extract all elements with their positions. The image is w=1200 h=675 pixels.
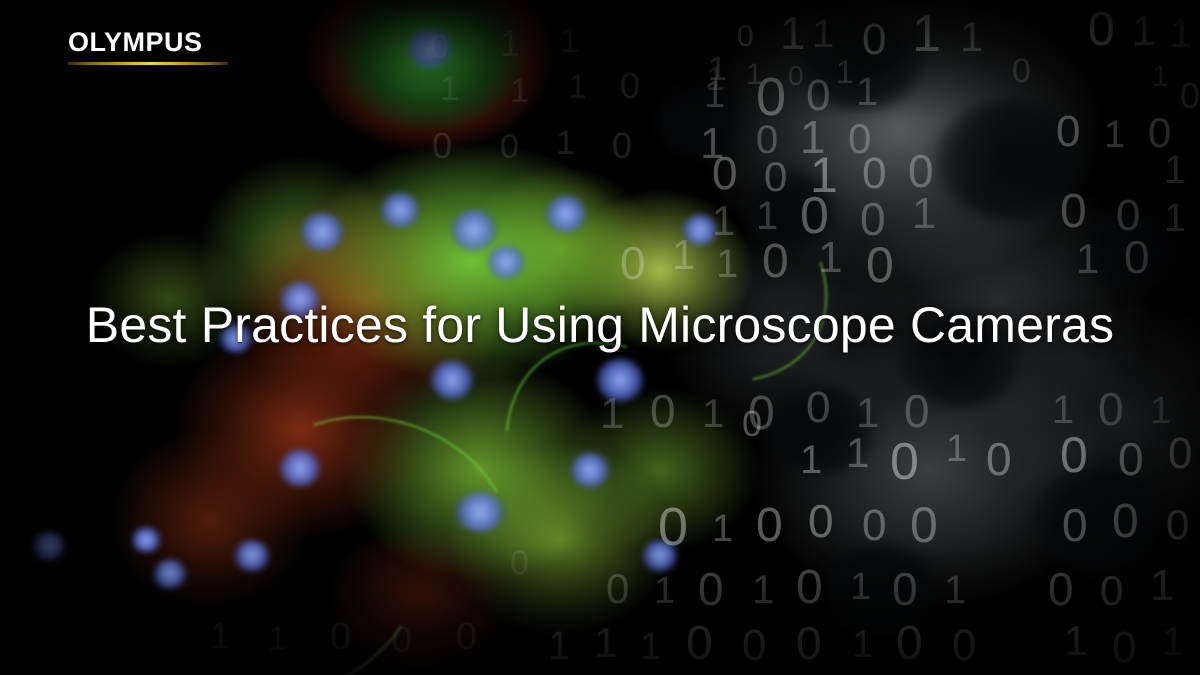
page-title: Best Practices for Using Microscope Came… [0, 296, 1200, 354]
binary-digit: 0 [866, 240, 894, 290]
cell-nucleus [131, 527, 161, 553]
cell-nucleus [596, 358, 644, 402]
binary-digit: 1 [960, 16, 983, 58]
binary-digit: 0 [1166, 504, 1189, 546]
binary-digit: 1 [850, 568, 871, 606]
binary-digit: 0 [392, 622, 412, 658]
binary-digit: 0 [860, 196, 886, 242]
binary-digit: 0 [712, 150, 738, 196]
binary-digit: 1 [756, 196, 778, 236]
binary-digit: 0 [430, 30, 449, 64]
cell-nucleus [682, 214, 718, 246]
dark-blob [745, 170, 835, 250]
binary-digit: 0 [862, 152, 886, 196]
binary-digit: 1 [856, 392, 879, 434]
binary-digit: 0 [952, 624, 976, 668]
binary-digit: 0 [1100, 570, 1123, 612]
binary-digit: 0 [748, 390, 775, 438]
binary-digit: 1 [1162, 622, 1184, 662]
binary-digit: 0 [986, 436, 1012, 482]
cell-filament [223, 381, 541, 663]
cell-nucleus [234, 540, 270, 572]
binary-digit: 1 [704, 76, 725, 114]
binary-digit: 1 [654, 572, 675, 610]
binary-digit: 1 [712, 510, 733, 548]
binary-digit: 1 [812, 14, 834, 54]
binary-digit: 1 [1164, 150, 1186, 190]
binary-digit: 0 [1148, 112, 1171, 154]
binary-digit: 1 [912, 192, 936, 236]
binary-digit: 0 [742, 406, 762, 442]
cell-nucleus [642, 540, 678, 572]
binary-digit: 0 [1048, 566, 1074, 612]
binary-digit: 0 [808, 498, 834, 544]
binary-digit: 0 [806, 386, 830, 430]
binary-digit: 1 [800, 114, 826, 160]
binary-digit: 0 [1112, 626, 1136, 670]
binary-digit: 1 [1064, 620, 1087, 662]
binary-digit: 1 [594, 622, 617, 664]
binary-digit: 1 [268, 622, 287, 656]
dark-blob [795, 10, 925, 110]
binary-digit: 0 [1124, 234, 1150, 280]
cell-nucleus [570, 452, 610, 488]
binary-digit: 0 [1056, 110, 1080, 154]
cell-nucleus [454, 492, 506, 532]
binary-digit: 1 [708, 52, 727, 86]
binary-digit: 1 [1132, 10, 1155, 52]
binary-digit: 0 [892, 566, 918, 612]
binary-digit: 0 [1118, 436, 1144, 482]
dark-blob [765, 385, 875, 475]
binary-digit: 1 [716, 244, 738, 284]
binary-digit: 0 [330, 618, 351, 656]
binary-digit: 0 [1180, 78, 1200, 114]
binary-digit: 1 [210, 618, 230, 654]
binary-digit: 1 [752, 570, 774, 610]
binary-digit: 1 [800, 440, 822, 480]
cell-nucleus [380, 192, 420, 228]
binary-digit: 0 [862, 18, 886, 62]
binary-digit: 0 [510, 546, 529, 580]
binary-digit: 1 [1164, 198, 1186, 238]
binary-digit: 1 [1052, 390, 1074, 430]
binary-digit: 0 [658, 500, 688, 554]
binary-digit: 1 [640, 628, 661, 666]
cell-nucleus [430, 360, 474, 400]
binary-digit: 0 [904, 388, 930, 434]
binary-digit: 0 [456, 618, 477, 656]
dark-blob [820, 545, 940, 635]
binary-digit: 1 [510, 74, 529, 108]
binary-digit: 0 [1062, 502, 1088, 548]
binary-digit: 0 [612, 128, 632, 164]
binary-digit: 1 [702, 394, 724, 434]
binary-digit: 1 [1170, 14, 1192, 54]
binary-digit: 0 [764, 156, 787, 198]
binary-digit: 0 [1012, 54, 1031, 88]
binary-digit: 1 [946, 430, 967, 468]
binary-digit: 1 [560, 24, 579, 58]
binary-digit: 0 [908, 148, 934, 194]
binary-digit: 1 [672, 234, 695, 276]
binary-digit: 1 [746, 60, 763, 90]
binary-digit: 0 [788, 62, 804, 90]
binary-digit: 1 [500, 26, 520, 62]
cell-nucleus [279, 449, 321, 487]
binary-digit: 1 [556, 126, 575, 160]
olympus-wordmark: OLYMPUS [68, 29, 228, 56]
binary-digit: 0 [796, 564, 823, 612]
cell-filament [537, 118, 868, 427]
cell-nucleus [487, 245, 525, 279]
binary-digit: 0 [848, 118, 871, 160]
binary-digit: 0 [762, 238, 789, 286]
olympus-logo: OLYMPUS [68, 29, 228, 65]
binary-digit: 0 [1168, 432, 1192, 476]
binary-digit: 1 [1076, 238, 1099, 280]
binary-digit: 1 [700, 122, 724, 166]
binary-digit: 1 [944, 570, 966, 610]
binary-digit: 0 [800, 190, 829, 242]
binary-digit: 1 [568, 70, 587, 104]
cell-nucleus [545, 195, 587, 233]
dark-blob [1035, 465, 1165, 575]
binary-digit: 1 [836, 56, 854, 88]
dark-blob [1080, 208, 1180, 293]
dark-blob [935, 100, 1085, 220]
binary-digit: 0 [650, 388, 676, 434]
dark-blob [655, 83, 745, 158]
cell-nucleus [407, 28, 453, 68]
title-card: 0110110111101011001010100101001001110010… [0, 0, 1200, 675]
cell-nucleus [451, 209, 497, 251]
binary-digit: 0 [1060, 430, 1088, 480]
binary-digit: 0 [1088, 6, 1115, 54]
binary-digit: 0 [1112, 498, 1139, 546]
binary-digit: 1 [440, 72, 459, 106]
binary-digit: 0 [896, 620, 923, 668]
cell-nucleus [153, 559, 187, 589]
binary-digit: 1 [846, 432, 869, 474]
binary-digit: 1 [810, 150, 838, 200]
binary-digit: 0 [698, 566, 724, 612]
binary-digit: 1 [1150, 392, 1171, 430]
binary-digit: 1 [1150, 564, 1174, 608]
binary-digit: 1 [912, 8, 941, 60]
binary-digit: 0 [756, 70, 786, 124]
binary-digit: 0 [620, 68, 640, 104]
binary-digit: 1 [548, 626, 570, 666]
binary-digit: 1 [818, 236, 842, 280]
binary-digit: 0 [742, 624, 766, 668]
binary-digit: 0 [756, 120, 778, 160]
binary-digit: 0 [756, 502, 783, 550]
binary-digit: 0 [620, 240, 646, 286]
binary-digit: 0 [737, 22, 754, 52]
cell-nucleus [31, 531, 65, 561]
binary-digit: 0 [806, 74, 830, 118]
binary-digit: 0 [686, 620, 713, 668]
binary-digit: 0 [796, 620, 822, 666]
binary-digit: 0 [606, 568, 629, 610]
binary-digit: 1 [1152, 62, 1169, 92]
binary-digit: 0 [432, 128, 452, 164]
binary-digit: 0 [910, 500, 938, 550]
cell-filament [98, 474, 447, 675]
binary-digit: 0 [1060, 188, 1087, 236]
cell-nucleus [300, 212, 344, 252]
binary-digit: 0 [1116, 194, 1140, 238]
binary-digit: 1 [712, 200, 735, 242]
binary-digit: 1 [706, 62, 725, 96]
binary-digit: 0 [890, 436, 919, 488]
binary-digit: 1 [600, 392, 624, 436]
binary-digit: 1 [852, 626, 873, 664]
binary-digit: 1 [780, 10, 806, 56]
binary-digit: 1 [1104, 116, 1125, 154]
binary-digit: 1 [856, 72, 878, 112]
binary-digit: 0 [1098, 386, 1124, 432]
binary-digit: 0 [862, 504, 886, 548]
binary-digit: 0 [500, 130, 519, 164]
olympus-gold-rule [68, 62, 228, 65]
